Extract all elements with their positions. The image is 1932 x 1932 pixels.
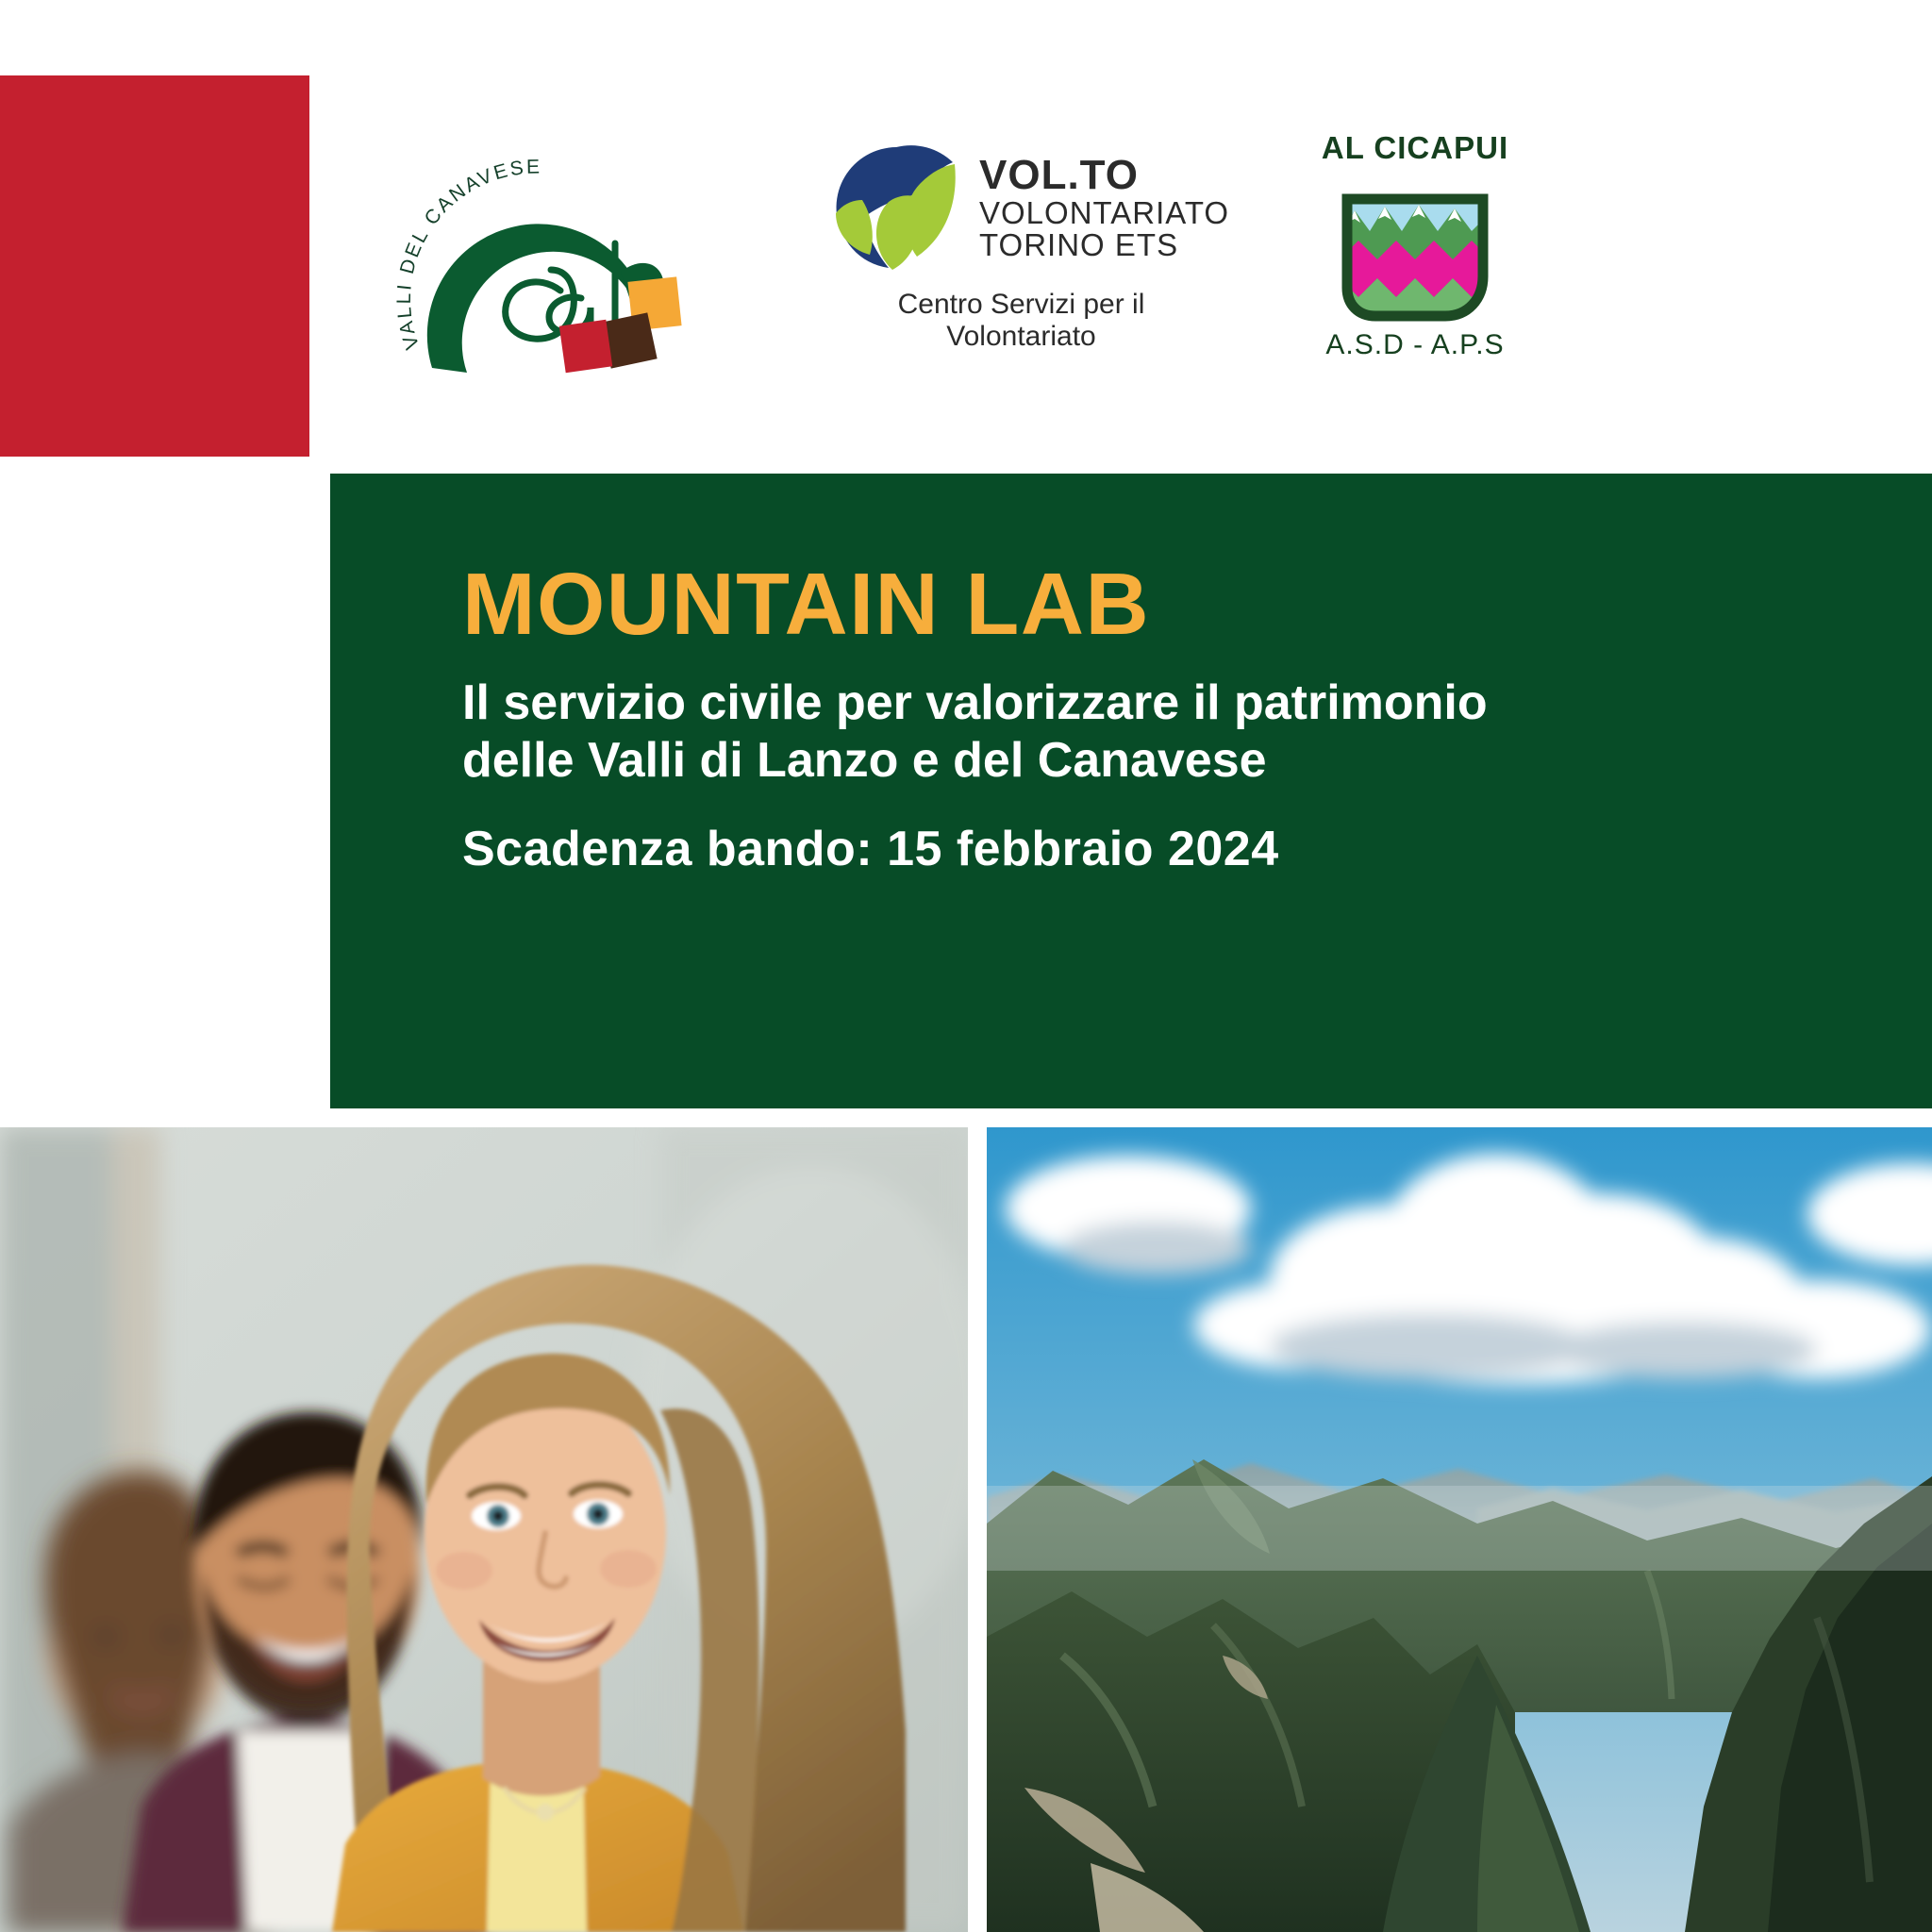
- volto-name: VOL.TO: [979, 154, 1229, 197]
- page-title: MOUNTAIN LAB: [462, 560, 1875, 648]
- volto-line-torino-ets: TORINO ETS: [979, 229, 1229, 261]
- red-accent-block: [0, 75, 309, 457]
- smiling-young-people-photo: [0, 1127, 968, 1932]
- cicapui-subtitle: A.S.D - A.P.S: [1311, 331, 1519, 359]
- cicapui-title: AL CICAPUI: [1311, 132, 1519, 163]
- volto-leaf-icon: [830, 142, 962, 274]
- volto-logo: VOL.TO VOLONTARIATO TORINO ETS Centro Se…: [830, 142, 1226, 377]
- page-subtitle-line-1: Il servizio civile per valorizzare il pa…: [462, 675, 1707, 732]
- deadline-text: Scadenza bando: 15 febbraio 2024: [462, 821, 1279, 877]
- volto-line-volontariato: VOLONTARIATO: [979, 197, 1229, 229]
- volto-wordmark: VOL.TO VOLONTARIATO TORINO ETS: [979, 154, 1229, 261]
- volto-tagline: Centro Servizi per il Volontariato: [830, 289, 1212, 353]
- gal-valli-del-canavese-logo: VALLI DEL CANAVESE: [396, 132, 708, 387]
- main-green-panel: MOUNTAIN LAB Il servizio civile per valo…: [330, 474, 1932, 1108]
- panel-text-block: MOUNTAIN LAB Il servizio civile per valo…: [462, 560, 1875, 791]
- volto-logo-top: VOL.TO VOLONTARIATO TORINO ETS: [830, 142, 1226, 274]
- poster-canvas: VALLI DEL CANAVESE: [0, 0, 1932, 1932]
- al-cicapui-logo: AL CICAPUI: [1311, 132, 1519, 396]
- mountain-landscape-photo: [987, 1127, 1932, 1932]
- page-subtitle-line-2: delle Valli di Lanzo e del Canavese: [462, 732, 1707, 790]
- partner-logo-row: VALLI DEL CANAVESE: [377, 132, 1604, 406]
- cicapui-leaf-badge-icon: [1340, 173, 1491, 324]
